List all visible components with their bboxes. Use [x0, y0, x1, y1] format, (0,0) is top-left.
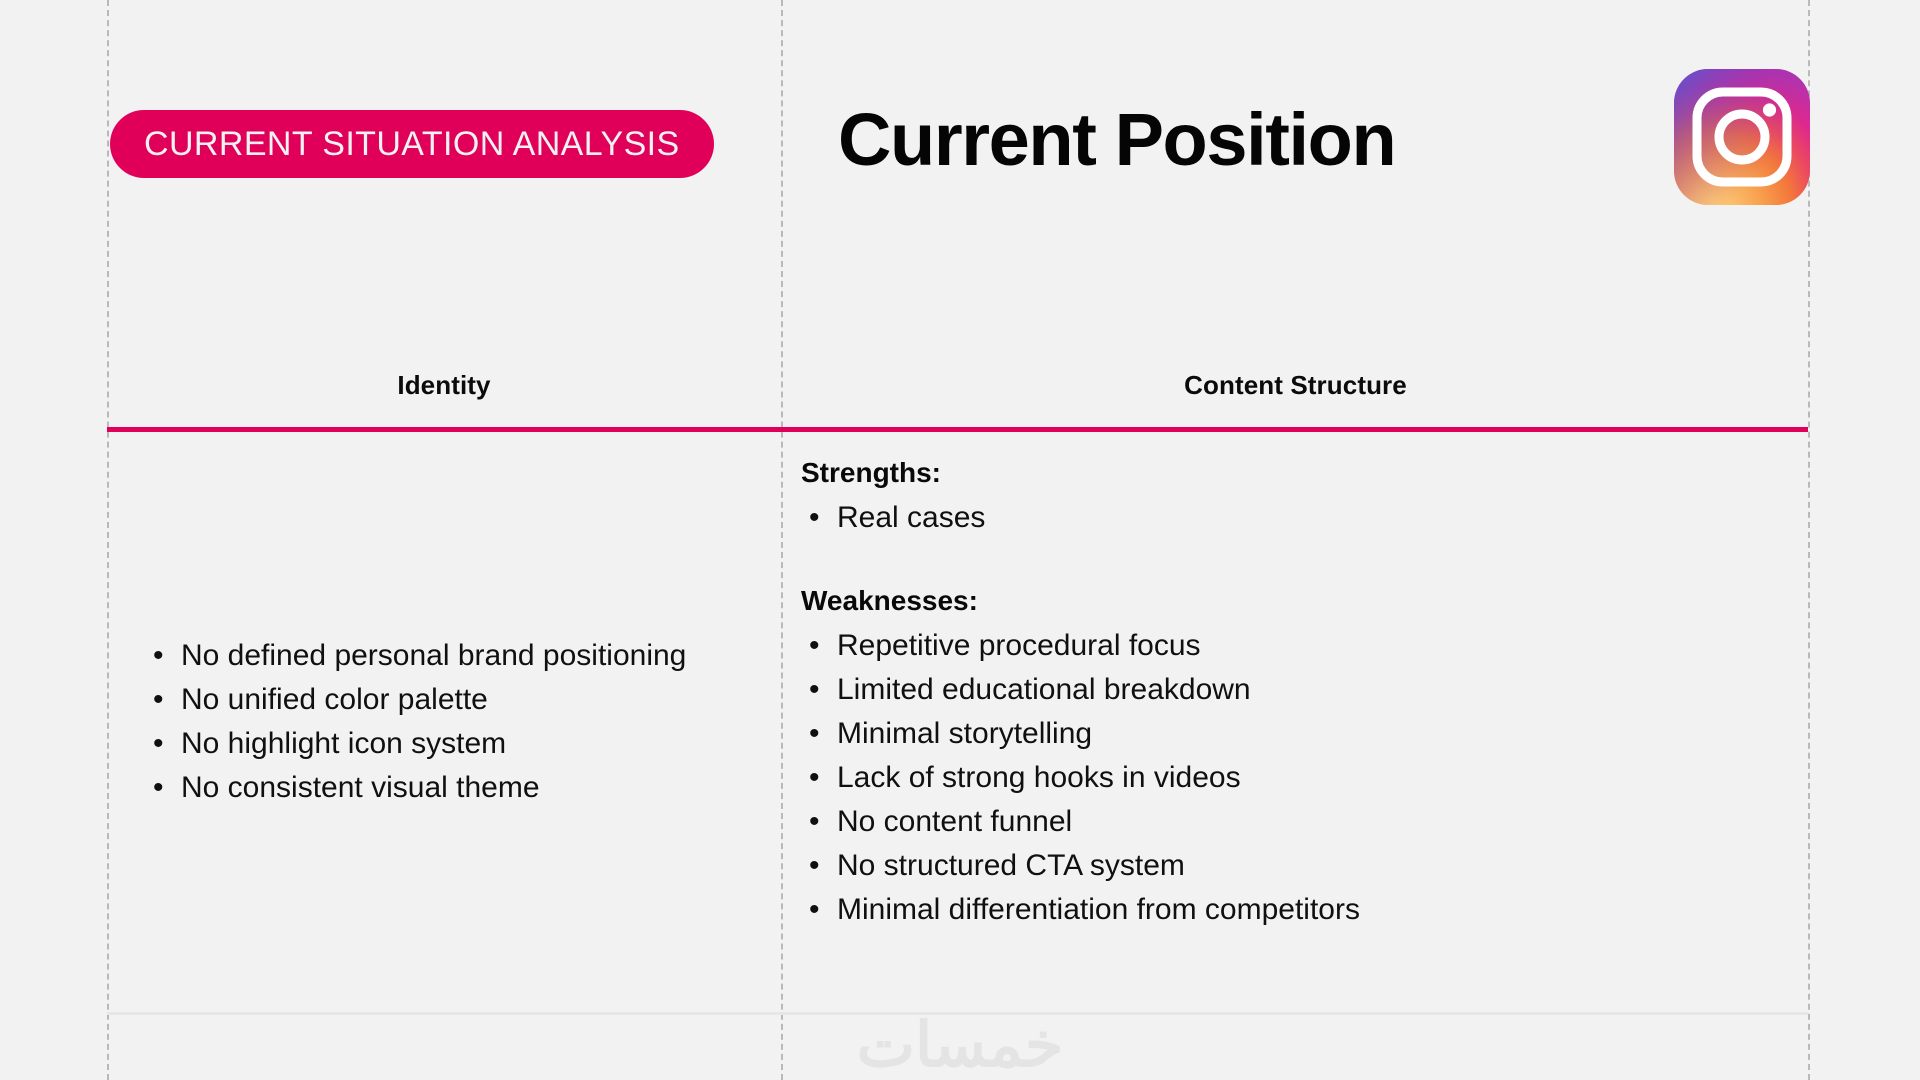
section-spacer — [801, 540, 1810, 582]
list-item: No highlight icon system — [145, 722, 765, 766]
section-badge: CURRENT SITUATION ANALYSIS — [110, 110, 714, 178]
strengths-label: Strengths: — [801, 454, 1810, 492]
list-item: No content funnel — [801, 800, 1810, 844]
identity-list: No defined personal brand positioning No… — [145, 634, 765, 810]
list-item: No structured CTA system — [801, 844, 1810, 888]
list-item: Repetitive procedural focus — [801, 624, 1810, 668]
list-item: No unified color palette — [145, 678, 765, 722]
list-item: Lack of strong hooks in videos — [801, 756, 1810, 800]
cell-content-structure: Strengths: Real cases Weaknesses: Repeti… — [781, 432, 1810, 1012]
weaknesses-list: Repetitive procedural focus Limited educ… — [801, 624, 1810, 932]
slide-canvas: CURRENT SITUATION ANALYSIS Current Posit… — [0, 0, 1920, 1080]
page-title: Current Position — [838, 103, 1395, 177]
weaknesses-label: Weaknesses: — [801, 582, 1810, 620]
table-body-row: No defined personal brand positioning No… — [107, 432, 1810, 1012]
list-item: Real cases — [801, 496, 1810, 540]
instagram-icon — [1674, 69, 1810, 205]
watermark: خمسات — [0, 1012, 1920, 1080]
section-badge-label: CURRENT SITUATION ANALYSIS — [144, 125, 680, 164]
column-header-content-structure: Content Structure — [781, 340, 1810, 430]
list-item: No defined personal brand positioning — [145, 634, 765, 678]
table-column-headers: Identity Content Structure — [107, 340, 1810, 430]
slide-header: CURRENT SITUATION ANALYSIS Current Posit… — [0, 0, 1920, 300]
cell-identity: No defined personal brand positioning No… — [107, 432, 781, 1012]
list-item: Minimal storytelling — [801, 712, 1810, 756]
list-item: Limited educational breakdown — [801, 668, 1810, 712]
list-item: Minimal differentiation from competitors — [801, 888, 1810, 932]
list-item: No consistent visual theme — [145, 766, 765, 810]
strengths-list: Real cases — [801, 496, 1810, 540]
column-header-identity: Identity — [107, 340, 781, 430]
